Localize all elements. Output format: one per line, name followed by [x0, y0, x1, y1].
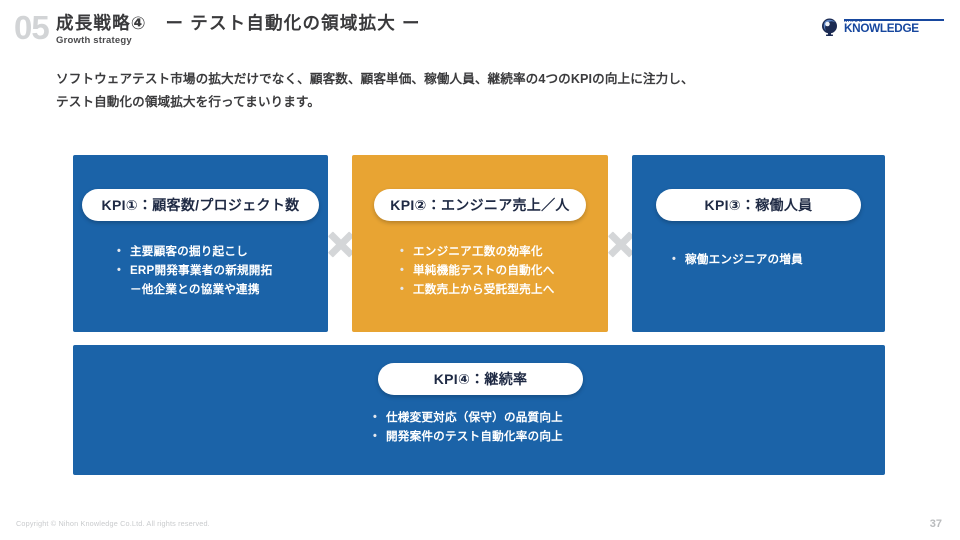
- slide-page-number: 37: [930, 518, 942, 530]
- logo-wordmark: NIHON KNOWLEDGE: [844, 19, 917, 36]
- list-item: • エンジニア工数の効率化: [400, 243, 555, 262]
- list-item-label: 工数売上から受託型売上へ: [413, 281, 555, 300]
- bullet-dot-icon: •: [400, 281, 413, 299]
- list-item: • 仕様変更対応（保守）の品質向上: [373, 409, 563, 428]
- list-item: • 単純機能テストの自動化へ: [400, 262, 555, 281]
- kpi-box-2[interactable]: KPI②：エンジニア売上／人 • エンジニア工数の効率化 • 単純機能テストの自…: [352, 155, 608, 332]
- list-item-sub: －他企業との協業や連携: [117, 281, 272, 300]
- company-logo: NIHON KNOWLEDGE: [820, 16, 944, 38]
- logo-rule: [844, 19, 944, 21]
- kpi-3-bullet-list: • 稼働エンジニアの増員: [672, 251, 803, 270]
- copyright-text: Copyright © Nihon Knowledge Co.Ltd. All …: [16, 519, 210, 528]
- kpi-2-heading-pill: KPI②：エンジニア売上／人: [374, 189, 586, 221]
- page-title: 成長戦略④ ー テスト自動化の領域拡大 ー: [56, 13, 421, 33]
- bullet-dot-icon: •: [672, 251, 685, 269]
- list-item-label: エンジニア工数の効率化: [413, 243, 543, 262]
- kpi-3-heading-pill: KPI③：稼働人員: [656, 189, 861, 221]
- list-item: • 主要顧客の掘り起こし: [117, 243, 272, 262]
- multiply-connector-icon-2: [608, 231, 634, 257]
- list-item: • 開発案件のテスト自動化率の向上: [373, 428, 563, 447]
- kpi-box-3[interactable]: KPI③：稼働人員 • 稼働エンジニアの増員: [632, 155, 885, 332]
- kpi-diagram: KPI①：顧客数/プロジェクト数 • 主要顧客の掘り起こし • ERP開発事業者…: [73, 155, 885, 475]
- kpi-1-bullet-list: • 主要顧客の掘り起こし • ERP開発事業者の新規開拓 －他企業との協業や連携: [117, 243, 272, 299]
- list-item-label: 仕様変更対応（保守）の品質向上: [386, 409, 563, 428]
- bullet-dot-icon: •: [400, 262, 413, 280]
- bullet-dot-icon: •: [117, 243, 130, 261]
- bullet-dot-icon: •: [373, 409, 386, 427]
- kpi-2-bullet-list: • エンジニア工数の効率化 • 単純機能テストの自動化へ • 工数売上から受託型…: [400, 243, 555, 299]
- list-item-label: ERP開発事業者の新規開拓: [130, 262, 272, 281]
- bullet-dot-icon: •: [373, 428, 386, 446]
- knowledge-globe-icon: [820, 17, 840, 37]
- kpi-4-heading-pill: KPI④：継続率: [378, 363, 583, 395]
- multiply-connector-icon-1: [328, 231, 354, 257]
- logo-main-text: KNOWLEDGE: [844, 24, 919, 36]
- list-item: • 稼働エンジニアの増員: [672, 251, 803, 270]
- section-number: 05: [14, 11, 49, 44]
- list-item-label: 単純機能テストの自動化へ: [413, 262, 555, 281]
- bullet-dot-icon: •: [400, 243, 413, 261]
- title-block: 成長戦略④ ー テスト自動化の領域拡大 ー Growth strategy: [56, 13, 421, 46]
- bullet-dot-icon: •: [117, 262, 130, 280]
- page-subtitle: Growth strategy: [56, 35, 421, 46]
- kpi-4-bullet-list: • 仕様変更対応（保守）の品質向上 • 開発案件のテスト自動化率の向上: [373, 409, 563, 447]
- list-item-label: 主要顧客の掘り起こし: [130, 243, 248, 262]
- kpi-box-1[interactable]: KPI①：顧客数/プロジェクト数 • 主要顧客の掘り起こし • ERP開発事業者…: [73, 155, 328, 332]
- kpi-box-4[interactable]: KPI④：継続率 • 仕様変更対応（保守）の品質向上 • 開発案件のテスト自動化…: [73, 345, 885, 475]
- lead-line-2: テスト自動化の領域拡大を行ってまいります。: [56, 91, 856, 114]
- lead-line-1: ソフトウェアテスト市場の拡大だけでなく、顧客数、顧客単価、稼働人員、継続率の4つ…: [56, 68, 856, 91]
- list-item: • 工数売上から受託型売上へ: [400, 281, 555, 300]
- slide-header: 05 成長戦略④ ー テスト自動化の領域拡大 ー Growth strategy…: [0, 0, 960, 60]
- list-item: • ERP開発事業者の新規開拓: [117, 262, 272, 281]
- kpi-1-heading-pill: KPI①：顧客数/プロジェクト数: [82, 189, 319, 221]
- list-item-label: 稼働エンジニアの増員: [685, 251, 803, 270]
- lead-paragraph: ソフトウェアテスト市場の拡大だけでなく、顧客数、顧客単価、稼働人員、継続率の4つ…: [56, 68, 856, 115]
- slide: 05 成長戦略④ ー テスト自動化の領域拡大 ー Growth strategy…: [0, 0, 960, 540]
- list-item-label: 開発案件のテスト自動化率の向上: [386, 428, 563, 447]
- kpi-row-top: KPI①：顧客数/プロジェクト数 • 主要顧客の掘り起こし • ERP開発事業者…: [73, 155, 885, 332]
